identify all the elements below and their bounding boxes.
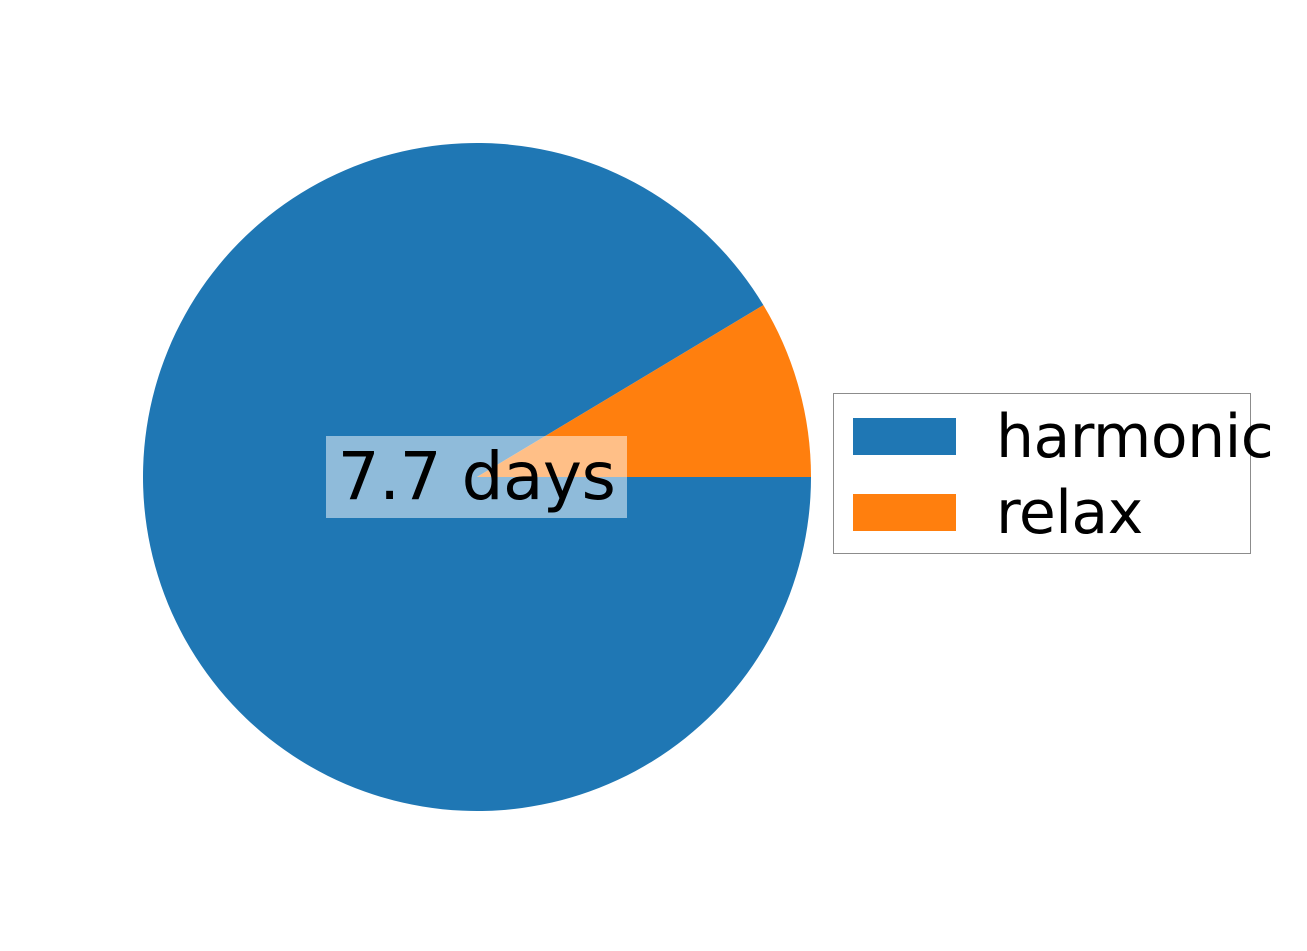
legend-entry-relax[interactable]: relax (834, 494, 1250, 570)
legend-label-relax: relax (996, 478, 1143, 548)
pie-chart-figure: 7.7 days harmonic relax (0, 0, 1307, 951)
legend-swatch-relax (853, 494, 956, 531)
pie-slice-label-harmonic: 7.7 days (326, 436, 627, 518)
legend: harmonic relax (833, 393, 1251, 554)
legend-label-harmonic: harmonic (996, 402, 1273, 472)
legend-swatch-harmonic (853, 418, 956, 455)
